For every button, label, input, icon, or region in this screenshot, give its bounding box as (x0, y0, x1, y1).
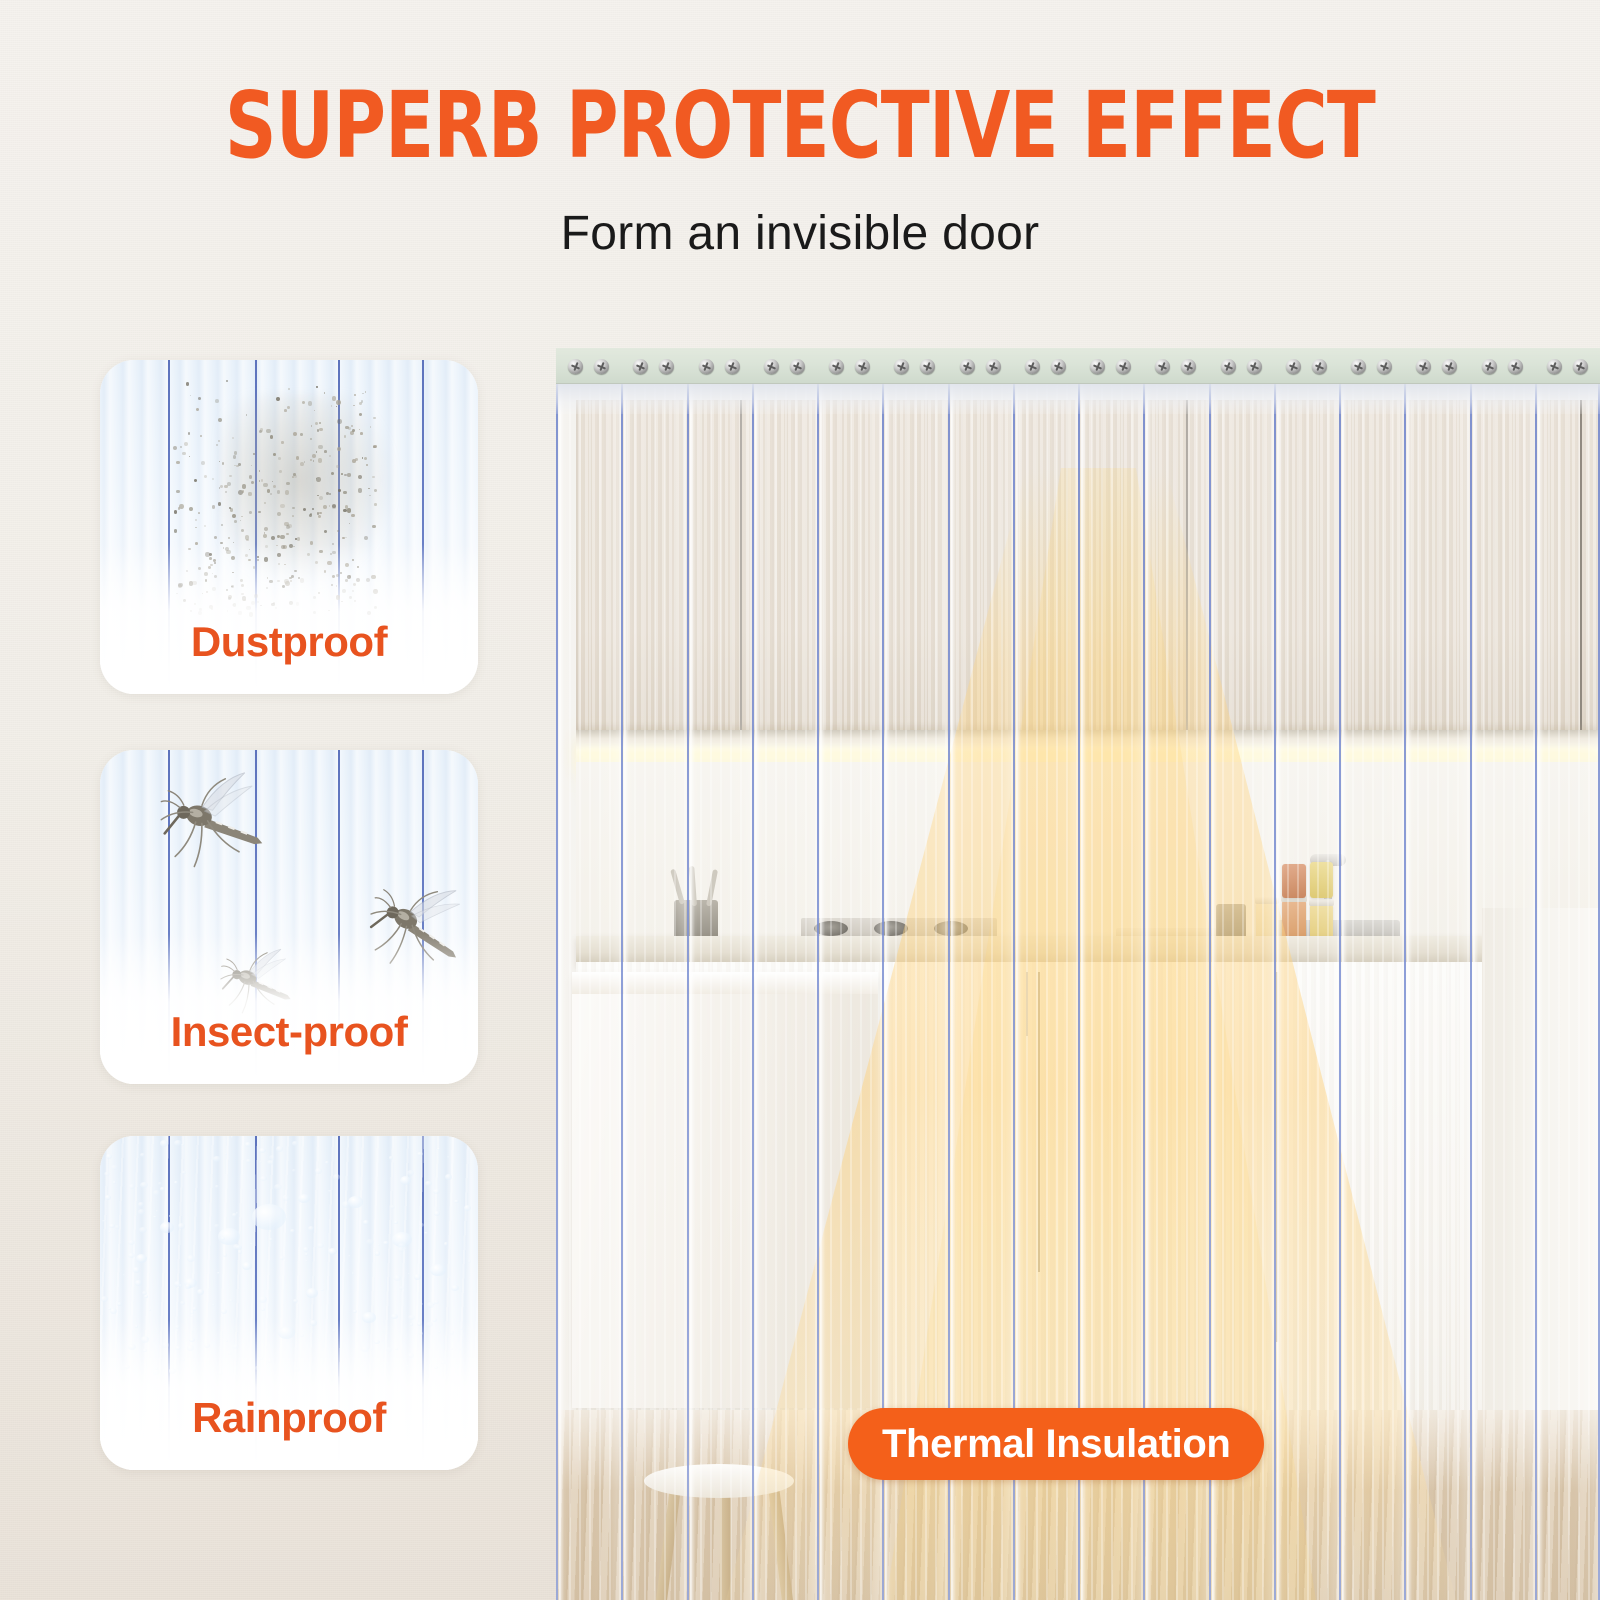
mounting-screw-icon (594, 359, 609, 374)
water-droplet (160, 1140, 168, 1146)
header: SUPERB PROTECTIVE EFFECT Form an invisib… (0, 80, 1600, 261)
page-title: SUPERB PROTECTIVE EFFECT (176, 80, 1424, 172)
right-wall-return (1482, 908, 1600, 1468)
water-droplet (215, 1185, 219, 1188)
water-droplet (391, 1314, 398, 1320)
water-droplet (250, 1243, 252, 1245)
water-droplet (108, 1231, 111, 1233)
mounting-screw-icon (1416, 359, 1431, 374)
thermal-insulation-badge[interactable]: Thermal Insulation (848, 1408, 1264, 1480)
water-droplet (232, 1213, 236, 1217)
mounting-screw-icon (1221, 359, 1236, 374)
mounting-screw-icon (1181, 359, 1196, 374)
water-droplet (259, 1296, 267, 1302)
water-droplet (427, 1302, 434, 1307)
mounting-screw-icon (1116, 359, 1131, 374)
water-droplet (342, 1201, 350, 1207)
water-droplet (178, 1223, 185, 1228)
water-droplet (383, 1241, 389, 1246)
water-droplet (333, 1174, 340, 1180)
water-droplet (105, 1195, 111, 1200)
water-droplet (138, 1202, 144, 1207)
water-droplet (113, 1181, 116, 1184)
water-droplet (445, 1174, 452, 1180)
water-droplet (197, 1289, 204, 1295)
water-droplet (182, 1171, 186, 1174)
island-countertop (572, 972, 878, 994)
mounting-screw-icon (659, 359, 674, 374)
water-droplet (279, 1256, 284, 1260)
water-droplet (389, 1156, 393, 1159)
mounting-screw-icon (1351, 359, 1366, 374)
water-droplet (117, 1302, 122, 1306)
water-droplet (214, 1224, 220, 1228)
water-droplet (292, 1169, 296, 1172)
water-droplet (128, 1253, 135, 1258)
spice-jar (1282, 864, 1306, 898)
mounting-screw-icon (960, 359, 975, 374)
spice-jar (1310, 862, 1333, 898)
water-droplet (414, 1274, 422, 1280)
water-droplet (246, 1159, 251, 1163)
feature-card-insect-proof[interactable]: Insect-proof (100, 750, 478, 1084)
mounting-screw-icon (1377, 359, 1392, 374)
mounting-screw-icon (1090, 359, 1105, 374)
water-droplet (274, 1184, 282, 1190)
water-droplet (140, 1182, 147, 1188)
water-droplet (400, 1176, 411, 1185)
water-droplet (185, 1284, 191, 1289)
water-droplet (139, 1227, 147, 1233)
water-droplet (192, 1307, 197, 1311)
water-droplet (174, 1281, 181, 1287)
mounting-screw-icon (1286, 359, 1301, 374)
product-infographic: SUPERB PROTECTIVE EFFECT Form an invisib… (0, 0, 1600, 1600)
mounting-screw-icon (1482, 359, 1497, 374)
backsplash (576, 762, 1600, 948)
mounting-screw-icon (790, 359, 805, 374)
water-droplet (180, 1301, 185, 1305)
water-droplet (106, 1154, 112, 1159)
water-droplet (328, 1248, 337, 1255)
water-droplet (437, 1148, 439, 1150)
water-droplet (233, 1244, 240, 1250)
rail-underside (556, 384, 1600, 414)
kitchen-island (572, 978, 878, 1408)
water-droplet (394, 1275, 401, 1281)
water-droplet (468, 1260, 471, 1262)
water-droplet (451, 1285, 459, 1291)
mounting-screw-icon (764, 359, 779, 374)
mounting-rail (556, 348, 1600, 384)
water-droplet (308, 1226, 314, 1231)
water-droplet (109, 1224, 114, 1228)
water-droplet (102, 1220, 105, 1223)
mounting-screw-icon (725, 359, 740, 374)
water-droplet (298, 1194, 310, 1203)
water-droplet (213, 1156, 221, 1162)
feature-card-label: Dustproof (100, 618, 478, 666)
water-droplet (430, 1264, 446, 1276)
water-droplet (292, 1141, 298, 1146)
mounting-screw-icon (920, 359, 935, 374)
water-droplet (160, 1222, 174, 1233)
feature-card-label: Insect-proof (100, 1008, 478, 1056)
water-droplet (245, 1142, 251, 1146)
mounting-screw-icon (568, 359, 583, 374)
water-droplet (160, 1187, 165, 1191)
feature-card-label: Rainproof (100, 1394, 478, 1442)
water-droplet (242, 1262, 252, 1270)
water-droplet (447, 1156, 450, 1158)
water-droplet (223, 1253, 227, 1256)
mounting-screw-icon (1547, 359, 1562, 374)
water-droplet (138, 1209, 145, 1215)
water-droplet (261, 1308, 265, 1312)
mounting-screw-icon (894, 359, 909, 374)
water-droplet (129, 1184, 135, 1189)
water-droplet (290, 1229, 295, 1233)
water-droplet (366, 1239, 374, 1245)
water-droplet (315, 1168, 322, 1174)
water-droplet (136, 1254, 147, 1263)
mounting-screw-icon (1508, 359, 1523, 374)
water-droplet (363, 1220, 369, 1225)
mounting-screw-icon (855, 359, 870, 374)
water-droplet (303, 1247, 309, 1252)
mounting-screw-icon (1573, 359, 1588, 374)
water-droplet (190, 1311, 194, 1314)
upper-cabinets (576, 400, 1600, 730)
water-droplet (425, 1181, 432, 1186)
water-droplet (306, 1288, 318, 1298)
feature-card-rainproof[interactable]: Rainproof (100, 1136, 478, 1470)
mounting-screw-icon (1442, 359, 1457, 374)
water-droplet (135, 1280, 142, 1285)
water-droplet (348, 1196, 363, 1208)
water-droplet (375, 1251, 380, 1255)
mounting-screw-icon (1155, 359, 1170, 374)
mounting-screw-icon (1025, 359, 1040, 374)
water-droplet (187, 1255, 195, 1261)
water-droplet (260, 1176, 267, 1181)
water-droplet (153, 1190, 160, 1196)
water-droplet (407, 1170, 414, 1176)
water-droplet (252, 1204, 286, 1230)
page-subtitle: Form an invisible door (0, 206, 1600, 261)
mounting-screw-icon (986, 359, 1001, 374)
water-droplet (420, 1303, 423, 1305)
mounting-screw-icon (1051, 359, 1066, 374)
mounting-screw-icon (829, 359, 844, 374)
mounting-screw-icon (633, 359, 648, 374)
water-droplet (390, 1205, 395, 1209)
water-droplet (325, 1161, 329, 1164)
mounting-screw-icon (1247, 359, 1262, 374)
mosquito-icon (147, 766, 285, 883)
bar-stool (644, 1464, 794, 1498)
mounting-screw-icon (699, 359, 714, 374)
water-droplet (217, 1272, 220, 1274)
mounting-screw-icon (1312, 359, 1327, 374)
feature-card-dustproof[interactable]: Dustproof (100, 360, 478, 694)
